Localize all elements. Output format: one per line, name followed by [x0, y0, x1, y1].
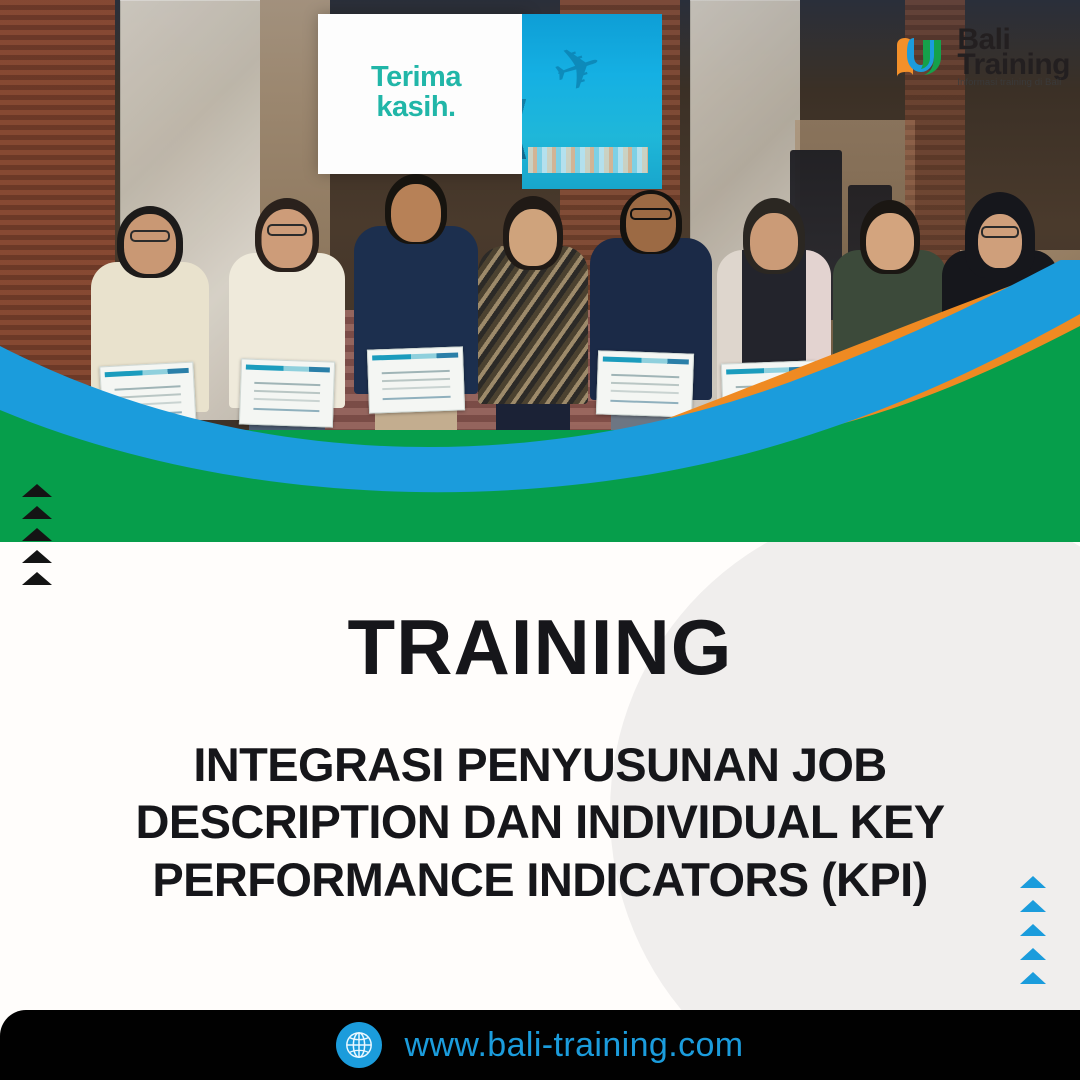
certificate-5	[596, 350, 694, 417]
chevron-up-icon	[22, 528, 52, 541]
projection-screen-text: Terima kasih.	[318, 62, 514, 123]
person-7-head	[866, 213, 914, 270]
person-5-head	[626, 194, 676, 252]
person-4-head	[509, 209, 557, 266]
subtitle-line-2: DESCRIPTION DAN INDIVIDUAL KEY	[46, 793, 1034, 850]
left-chevron-group	[22, 484, 52, 593]
person-2-head	[262, 209, 313, 268]
subtitle-line-1: INTEGRASI PENYUSUNAN JOB	[46, 736, 1034, 793]
person-8-head	[978, 214, 1022, 268]
brand-logo-line2: Training	[957, 51, 1070, 79]
chevron-up-icon	[22, 550, 52, 563]
footer-bar: www.bali-training.com	[0, 1010, 1080, 1080]
screen-line-2: kasih.	[318, 92, 514, 122]
website-url[interactable]: www.bali-training.com	[404, 1026, 743, 1065]
person-1-head	[124, 214, 176, 274]
chevron-up-icon	[1020, 876, 1046, 888]
person-3-head	[391, 184, 441, 242]
page-title: TRAINING	[0, 608, 1080, 686]
right-chevron-group	[1020, 876, 1046, 993]
certificate-1	[99, 362, 196, 433]
chevron-up-icon	[1020, 972, 1046, 984]
brand-logo-text: Bali Training Informasi training di Bali	[957, 26, 1070, 88]
subtitle-line-3: PERFORMANCE INDICATORS (KPI)	[46, 851, 1034, 908]
title-block: TRAINING INTEGRASI PENYUSUNAN JOB DESCRI…	[0, 542, 1080, 908]
certificate-3	[367, 346, 465, 413]
chevron-up-icon	[22, 506, 52, 519]
certificate-6	[721, 360, 817, 427]
screen-line-1: Terima	[318, 62, 514, 92]
airplane-icon: ✈	[546, 30, 624, 108]
chevron-up-icon	[22, 484, 52, 497]
content-area: TRAINING INTEGRASI PENYUSUNAN JOB DESCRI…	[0, 542, 1080, 1010]
person-1-glasses	[130, 230, 170, 242]
globe-icon	[336, 1022, 382, 1068]
green-band	[0, 430, 1080, 542]
book-leaf-logo-mark-icon	[893, 31, 949, 83]
certificate-2	[239, 358, 335, 427]
person-6-head	[750, 213, 798, 270]
chevron-up-icon	[22, 572, 52, 585]
person-2-glasses	[267, 224, 307, 236]
certificate-7	[841, 364, 937, 431]
person-8-glasses	[981, 226, 1019, 238]
poster-canvas: Terima kasih. ✈	[0, 0, 1080, 1080]
chevron-up-icon	[1020, 924, 1046, 936]
chevron-up-icon	[1020, 948, 1046, 960]
person-5-glasses	[630, 208, 672, 220]
page-subtitle: INTEGRASI PENYUSUNAN JOB DESCRIPTION DAN…	[0, 736, 1080, 908]
brand-logo[interactable]: Bali Training Informasi training di Bali	[893, 26, 1070, 88]
chevron-up-icon	[1020, 900, 1046, 912]
brand-tagline: Informasi training di Bali	[957, 79, 1070, 88]
